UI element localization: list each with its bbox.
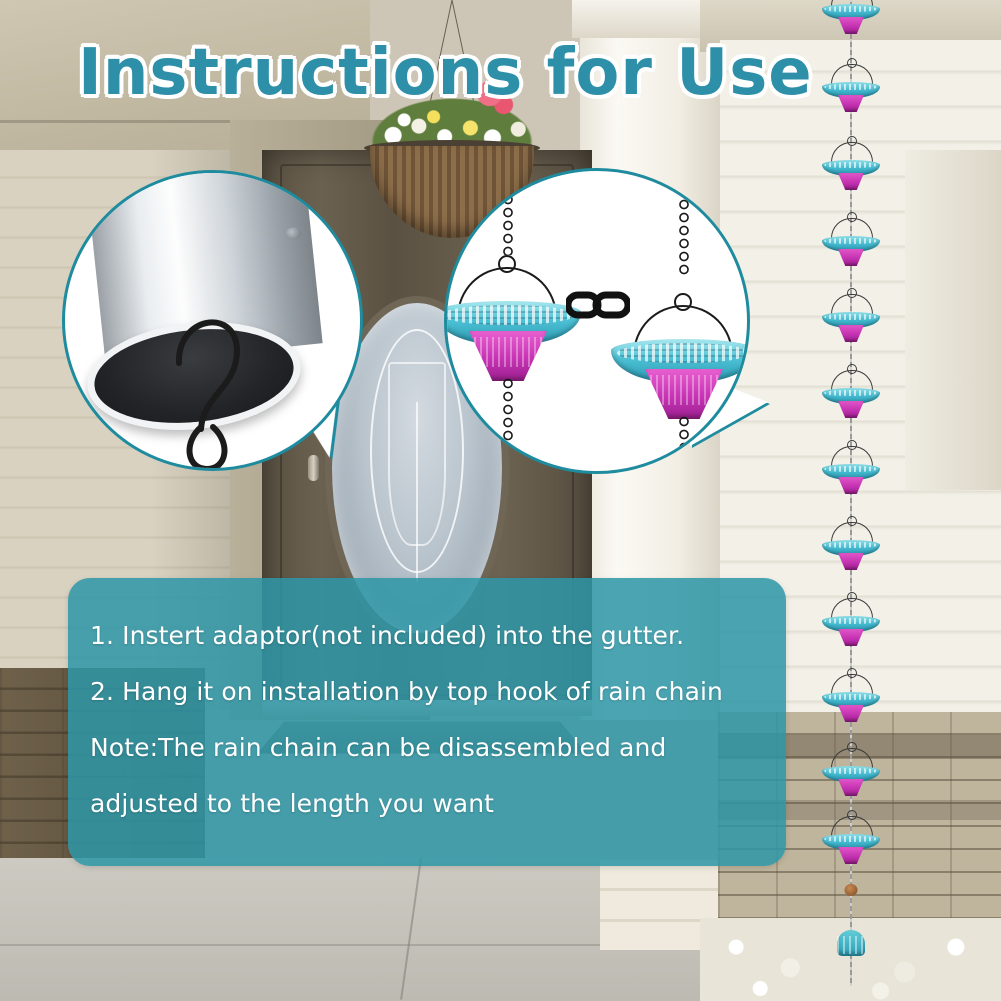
instruction-step-2: 2. Hang it on installation by top hook o… [90, 664, 772, 720]
instruction-image: Instructions for Use [0, 0, 1001, 1001]
instruction-step-1: 1. Instert adaptor(not included) into th… [90, 608, 772, 664]
downspout-screw-icon [284, 227, 301, 241]
page-title: Instructions for Use [78, 36, 738, 110]
rain-chain-cup [822, 218, 880, 264]
rain-chain-cup [822, 0, 880, 32]
callout-cup-connection [444, 168, 750, 474]
rain-chain-cup [822, 598, 880, 644]
instruction-note-1: Note:The rain chain can be disassembled … [90, 720, 772, 776]
chain-link-icon [566, 290, 630, 320]
callout-gutter-hook [62, 170, 363, 471]
instructions-panel: 1. Instert adaptor(not included) into th… [68, 578, 786, 866]
demo-chain-upper-right [679, 185, 689, 275]
rain-chain-cup [822, 142, 880, 188]
demo-chain-upper-left [503, 168, 513, 255]
rain-chain-bead [845, 884, 858, 896]
demo-funnel-right [645, 369, 723, 419]
instruction-note-2: adjusted to the length you want [90, 776, 772, 832]
demo-chain-lower-right [679, 415, 689, 474]
installed-rain-chain [806, 0, 896, 996]
rain-chain-cup [822, 64, 880, 110]
rain-chain-cup [822, 816, 880, 862]
rain-chain-cup [822, 674, 880, 720]
right-window-trim [905, 150, 1001, 490]
door-glass-mullion [416, 402, 418, 582]
rain-chain-cup [822, 522, 880, 568]
rain-chain-cup [822, 370, 880, 416]
instruction-lines: 1. Instert adaptor(not included) into th… [90, 608, 772, 832]
rain-chain-cup [822, 446, 880, 492]
rain-chain-cup [822, 294, 880, 340]
s-hook-icon [173, 291, 247, 471]
demo-chain-lower-left [503, 377, 513, 474]
rain-chain-bell-finial [837, 930, 865, 956]
rain-chain-cup [822, 748, 880, 794]
demo-funnel-left [469, 331, 547, 381]
